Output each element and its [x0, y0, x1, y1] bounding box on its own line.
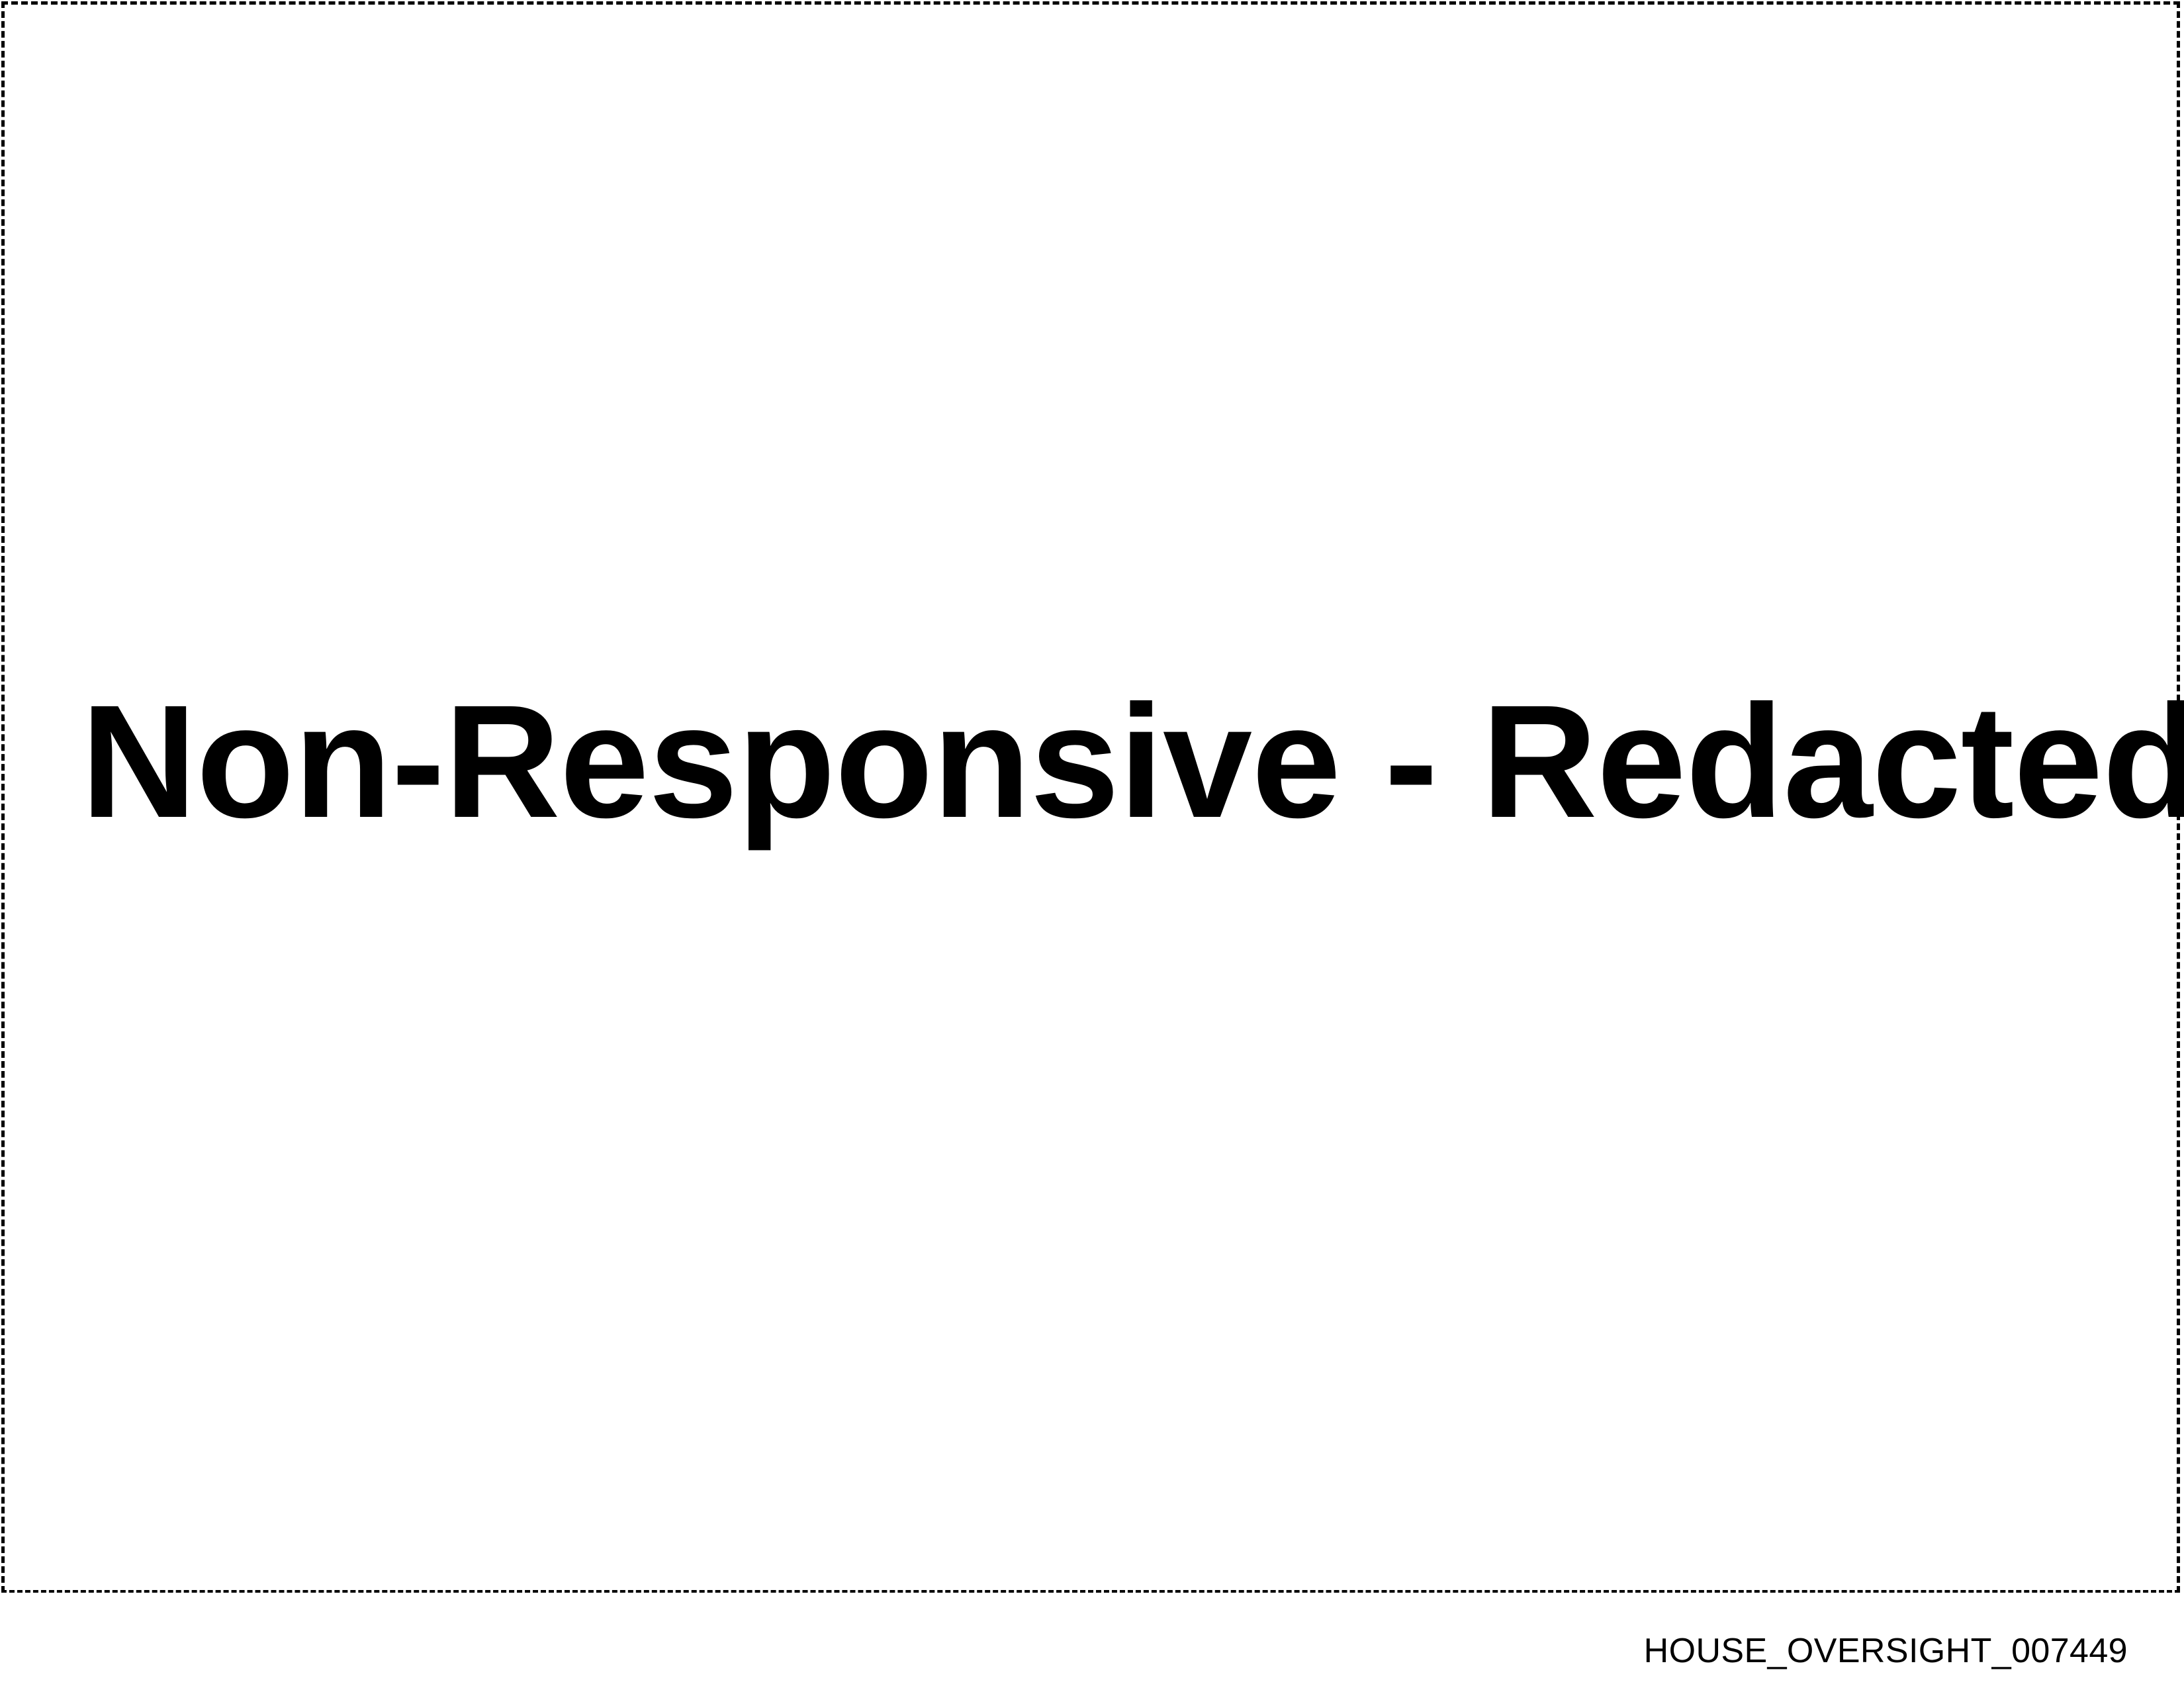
bates-number-label: HOUSE_OVERSIGHT_007449	[1644, 1631, 2128, 1671]
document-footer: HOUSE_OVERSIGHT_007449	[0, 1593, 2184, 1688]
document-body: Non-Responsive - Redacted	[0, 0, 2184, 1593]
document-page: Non-Responsive - Redacted HOUSE_OVERSIGH…	[0, 0, 2184, 1688]
redaction-stamp-text: Non-Responsive - Redacted	[81, 675, 2113, 849]
